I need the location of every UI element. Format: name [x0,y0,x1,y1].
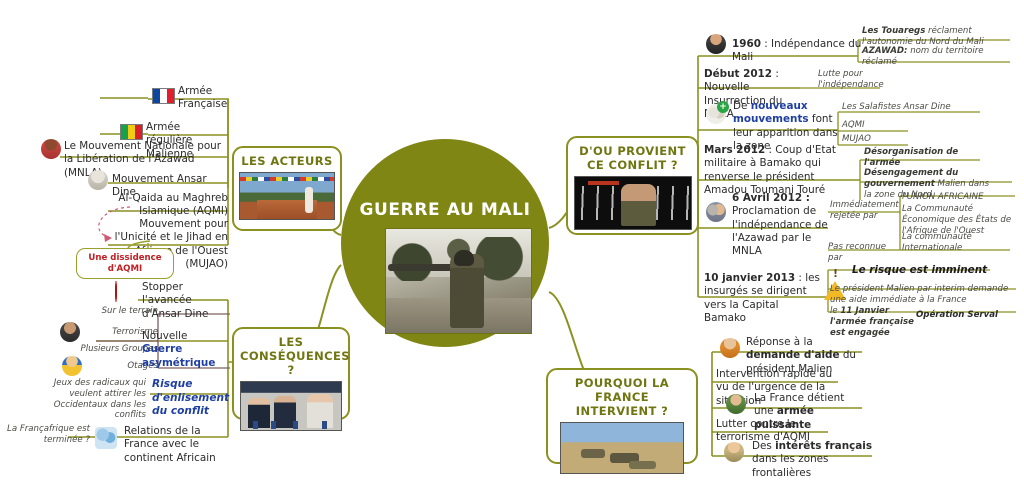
branch-image-origine [574,176,692,230]
raison-4-prefix: Des [752,440,775,452]
note-11-janvier-rest: 11 Janvier l'armée française est engagée [830,306,914,338]
terrorist-icon [60,322,80,342]
hostage-icon [62,356,82,376]
timeline-6-avril-2012: 6 Avril 2012 :Proclamation de l'indépend… [732,192,836,259]
note-touaregs: Les Touaregs réclament l'autonomie du No… [862,26,1012,48]
raison-4-suffix: dans les zones frontalières [752,453,828,478]
timeline-1960: 1960 : Indépendance du Mali [732,38,882,65]
note-immediatement-rejetee: Immédiatement rejetée par [830,200,900,222]
consequence-relations-afrique: Relations de la France avec le continent… [124,425,232,465]
raison-0-strong: demande d'aide [746,349,840,361]
raison-4-strong: intérêts français [775,440,872,452]
french-flag-icon [152,88,175,104]
note-touaregs-lead: Les Touaregs [862,26,925,36]
timeline-10-janvier-2013: 10 janvier 2013 : les insurgés se dirige… [704,272,820,325]
note-union-africaine: l'UNION AFRICAINE [902,192,1018,203]
branch-image-consequences [240,381,342,431]
label-guerre-asymetrique: Guerre asymétrique [142,343,215,368]
note-risque-imminent: Le risque est imminent [852,264,1012,277]
note-desorganisation-lead: Désorganisation de l'armée [864,147,958,168]
note-desorganisation-armee: Désorganisation de l'armée [864,147,972,169]
acteur-aqmi: Al-Qaida au Maghreb Islamique (AQMI) [112,192,228,219]
mali-flag-icon [120,124,143,140]
branch-image-acteurs [239,172,335,220]
branch-dou-provient-conflit[interactable]: D'OU PROVIENT CE CONFLIT ? [566,136,699,235]
stop-sign-icon [115,282,117,301]
french-interests-icon [724,442,744,462]
note-azawad-lead: AZAWAD: [862,46,907,56]
mindmap-canvas: GUERRE AU MALI LES ACTEURS Armée Françai… [0,0,1024,489]
branch-title-consequences: LES CONSÉQUENCES ? [234,329,348,381]
note-11-janvier-lead: le [830,306,840,316]
acteur-armee-francaise: Armée Française [178,85,240,112]
branch-title-pourquoi: POURQUOI LA FRANCE INTERVIENT ? [548,370,696,422]
touareg-elder-icon [706,34,726,54]
ansar-dine-figure-icon [88,170,108,190]
note-azawad: AZAWAD: nom du territoire réclamé [862,46,1012,68]
note-aqmi: AQMI [842,120,902,131]
note-communaute-internationale: La communauté Internationale [902,232,1006,254]
note-salafistes-ansar-dine: Les Salafistes Ansar Dine [842,102,982,113]
text-de: De [733,100,751,112]
branch-title-origine: D'OU PROVIENT CE CONFLIT ? [568,138,697,176]
soldier-icon [726,394,746,414]
date-mars-2012: Mars 2012 [704,144,765,156]
note-sur-le-terrain: Sur le terrain [66,306,158,317]
note-jeux-radicaux: Jeux des radicaux qui veulent attirer le… [22,378,146,421]
note-pas-reconnue-par: Pas reconnue par [828,242,900,264]
branch-les-consequences[interactable]: LES CONSÉQUENCES ? [232,327,350,420]
note-11-janvier: le 11 Janvier l'armée française est enga… [830,306,922,338]
note-aide-immediate-france: Le président Malien par interim demande … [830,284,1012,306]
central-node-image [385,228,532,334]
new-movements-icon: + [706,104,726,124]
azawad-proclamation-icon [706,202,726,222]
date-10-janvier-2013: 10 janvier 2013 [704,272,795,284]
note-lutte-independance: Lutte pour l'indépendance [818,69,894,91]
callout-dissidence-aqmi: Une dissidence d'AQMI [76,248,174,279]
consequence-risque-enlisement: Risque d'enlisement du conflit [152,378,230,419]
raison-interets-francais: Des intérêts français dans les zones fro… [752,440,874,480]
date-6-avril-2012: 6 Avril 2012 : [732,192,810,204]
mnla-fighter-icon [41,139,61,159]
warning-triangle-icon [824,262,846,281]
branch-pourquoi-france-intervient[interactable]: POURQUOI LA FRANCE INTERVIENT ? [546,368,698,464]
branch-les-acteurs[interactable]: LES ACTEURS [232,146,342,231]
africa-relations-icon [95,427,117,449]
date-debut-2012: Début 2012 [704,68,772,80]
branch-image-pourquoi [560,422,684,474]
branch-title-acteurs: LES ACTEURS [234,148,340,172]
text-6-avril-2012: Proclamation de l'indépendance de l'Azaw… [732,205,828,257]
note-operation-serval: Opération Serval [916,310,1016,321]
raison-0-prefix: Réponse à la [746,336,813,348]
timeline-mars-2012: Mars 2012 : Coup d'Etat militaire à Bama… [704,144,860,197]
date-1960: 1960 [732,38,761,50]
label-nouvelle: Nouvelle [142,330,187,342]
note-francafrique: La Françafrique est terminée ? [6,424,90,446]
central-node-title: GUERRE AU MALI [345,200,545,220]
president-aid-icon [720,338,740,358]
consequence-guerre-asymetrique: Nouvelle Guerre asymétrique [142,330,230,370]
